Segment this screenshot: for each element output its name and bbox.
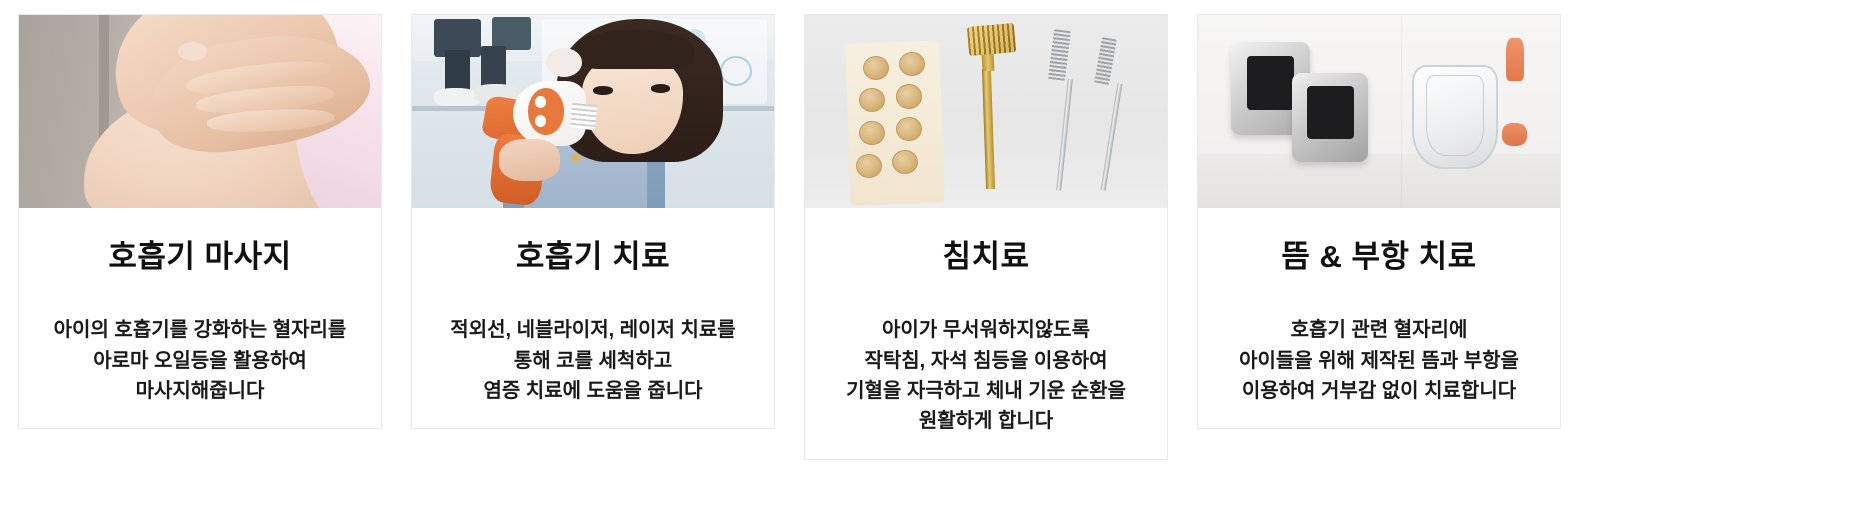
card-description-line: 적외선, 네블라이저, 레이저 치료를	[420, 315, 766, 345]
decor-patch	[896, 84, 922, 108]
card-description: 아이의 호흡기를 강화하는 혈자리를 아로마 오일등을 활용하여 마사지해줍니다	[27, 315, 373, 406]
decor-nebulizer-hole-right	[535, 115, 546, 127]
decor-roller-teeth	[967, 23, 1016, 56]
card-description-line: 통해 코를 세척하고	[420, 346, 766, 376]
card-body: 호흡기 치료 적외선, 네블라이저, 레이저 치료를 통해 코를 세척하고 염증…	[412, 208, 774, 428]
decor-patch	[892, 150, 918, 174]
decor-divider	[1401, 15, 1402, 208]
card-title: 호흡기 마사지	[27, 238, 373, 275]
card-body: 뜸 & 부항 치료 호흡기 관련 혈자리에 아이들을 위해 제작된 뜸과 부항을…	[1198, 208, 1560, 428]
card-image-acupuncture	[805, 15, 1167, 208]
card-description-line: 호흡기 관련 혈자리에	[1206, 315, 1552, 345]
decor-cupping-valve-top	[1506, 38, 1524, 80]
card-title: 침치료	[813, 238, 1159, 275]
decor-cupping-valve-side	[1502, 123, 1527, 146]
decor-device-screen-1	[1247, 56, 1294, 110]
card-description-line: 마사지해줍니다	[27, 376, 373, 406]
decor-roller-handle	[982, 69, 996, 189]
decor-patch	[896, 117, 922, 141]
decor-surface	[1198, 154, 1560, 208]
decor-needle-shaft-2	[1101, 83, 1123, 191]
decor-needle-shaft-1	[1056, 79, 1073, 191]
card-description: 아이가 무서워하지않도록 작탁침, 자석 침등을 이용하여 기혈을 자극하고 체…	[813, 315, 1159, 437]
decor-nebulizer-hole-left	[535, 96, 546, 108]
card-description-line: 작탁침, 자석 침등을 이용하여	[813, 346, 1159, 376]
treatment-card-respiratory-treatment[interactable]: 호흡기 치료 적외선, 네블라이저, 레이저 치료를 통해 코를 세척하고 염증…	[411, 14, 775, 429]
treatment-cards-row: 호흡기 마사지 아이의 호흡기를 강화하는 혈자리를 아로마 오일등을 활용하여…	[0, 0, 1864, 460]
decor-device-screen-2	[1307, 86, 1354, 138]
decor-patch	[863, 56, 889, 80]
card-title: 뜸 & 부항 치료	[1206, 238, 1552, 275]
card-description-line: 아이들을 위해 제작된 뜸과 부항을	[1206, 346, 1552, 376]
card-description: 호흡기 관련 혈자리에 아이들을 위해 제작된 뜸과 부항을 이용하여 거부감 …	[1206, 315, 1552, 406]
card-body: 침치료 아이가 무서워하지않도록 작탁침, 자석 침등을 이용하여 기혈을 자극…	[805, 208, 1167, 459]
card-description-line: 아이가 무서워하지않도록	[813, 315, 1159, 345]
decor-patch	[899, 52, 925, 76]
decor-patch-sheet	[846, 40, 946, 205]
card-description-line: 원활하게 합니다	[813, 406, 1159, 436]
treatment-card-acupuncture[interactable]: 침치료 아이가 무서워하지않도록 작탁침, 자석 침등을 이용하여 기혈을 자극…	[804, 14, 1168, 460]
decor-child-eye-right	[651, 84, 671, 92]
card-image-respiratory-treatment	[412, 15, 774, 208]
card-description-line: 이용하여 거부감 없이 치료합니다	[1206, 376, 1552, 406]
card-description: 적외선, 네블라이저, 레이저 치료를 통해 코를 세척하고 염증 치료에 도움…	[420, 315, 766, 406]
decor-child-eye-left	[593, 86, 613, 94]
card-description-line: 아이의 호흡기를 강화하는 혈자리를	[27, 315, 373, 345]
decor-overall-button-2	[571, 154, 580, 162]
card-image-moxibustion-cupping	[1198, 15, 1560, 208]
decor-child-bangs	[575, 30, 694, 69]
decor-patch	[856, 154, 882, 178]
card-description-line: 기혈을 자극하고 체내 기운 순환을	[813, 376, 1159, 406]
card-title: 호흡기 치료	[420, 238, 766, 275]
decor-needle-grip-2	[1094, 37, 1117, 85]
card-body: 호흡기 마사지 아이의 호흡기를 강화하는 혈자리를 아로마 오일등을 활용하여…	[19, 208, 381, 428]
decor-needle-grip-1	[1048, 30, 1071, 82]
decor-cupping-cup-inner	[1426, 75, 1484, 156]
decor-nebulizer-vents	[570, 103, 598, 131]
treatment-card-moxibustion-cupping[interactable]: 뜸 & 부항 치료 호흡기 관련 혈자리에 아이들을 위해 제작된 뜸과 부항을…	[1197, 14, 1561, 429]
card-description-line: 염증 치료에 도움을 줍니다	[420, 376, 766, 406]
decor-child-hand	[499, 139, 561, 181]
card-description-line: 아로마 오일등을 활용하여	[27, 346, 373, 376]
decor-nebulizer-front	[528, 88, 564, 134]
decor-background-shape-2	[492, 17, 532, 50]
treatment-card-respiratory-massage[interactable]: 호흡기 마사지 아이의 호흡기를 강화하는 혈자리를 아로마 오일등을 활용하여…	[18, 14, 382, 429]
card-image-respiratory-massage	[19, 15, 381, 208]
decor-earmuff	[546, 48, 582, 77]
